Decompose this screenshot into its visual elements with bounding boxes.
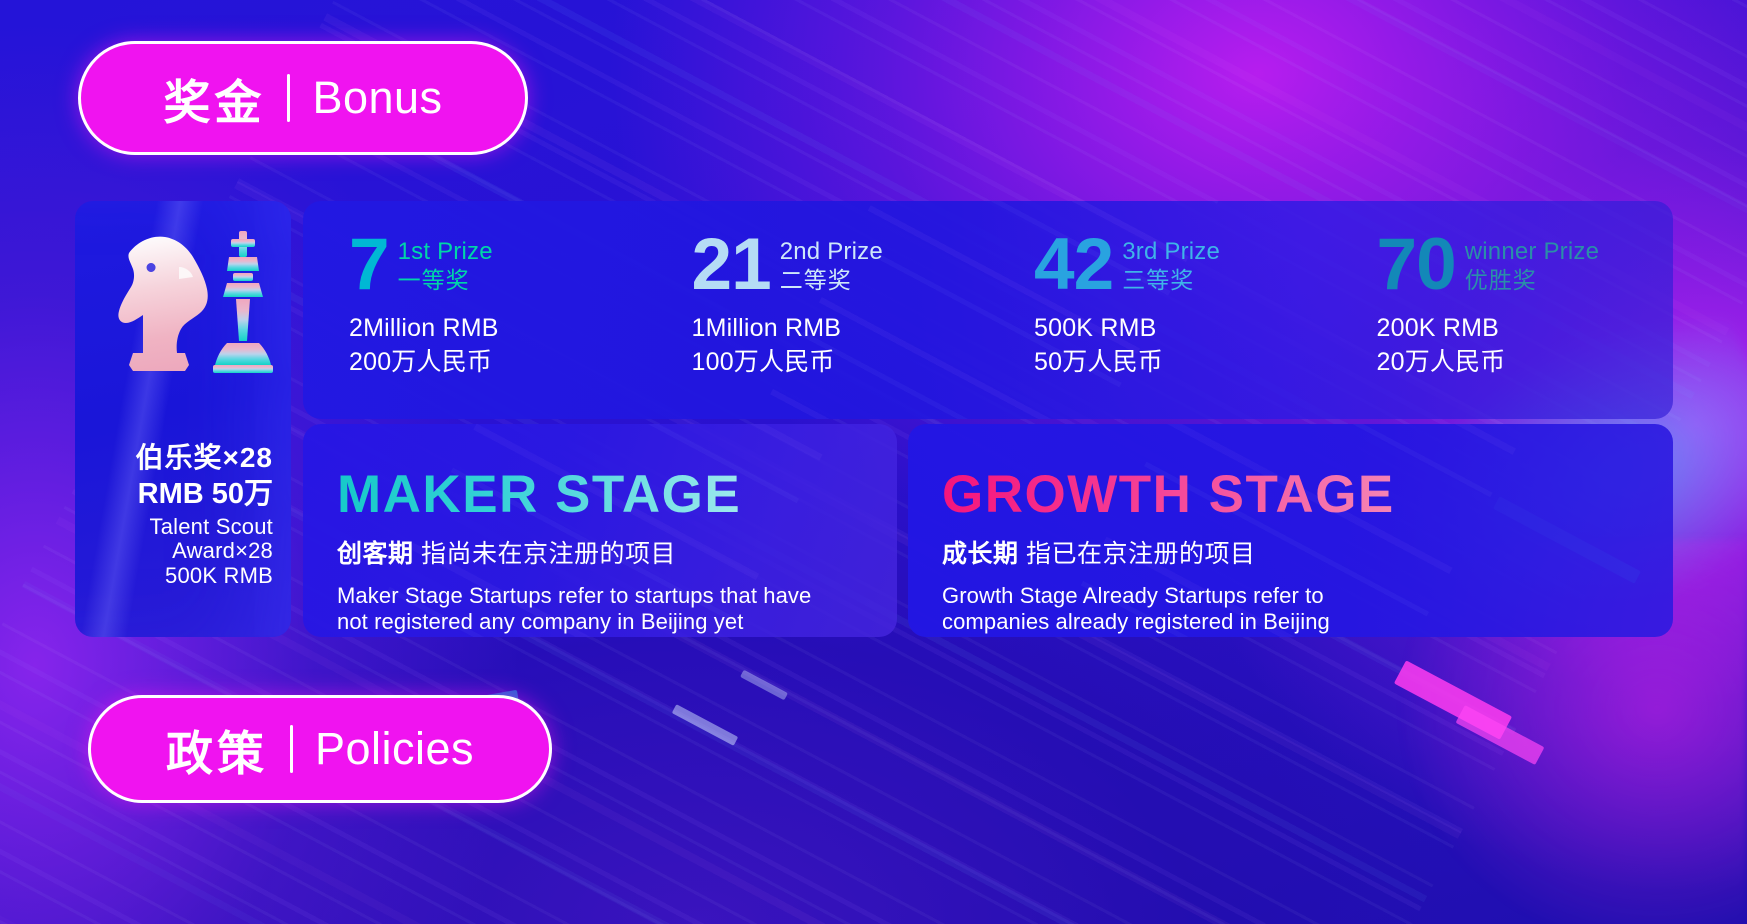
bonus-badge[interactable]: 奖金 Bonus <box>78 41 528 155</box>
prize-tier-2-header: 21 2nd Prize 二等奖 <box>692 235 989 295</box>
prize-tier-2: 21 2nd Prize 二等奖 1Million RMB 100万人民币 <box>646 201 989 419</box>
growth-stage-content: GROWTH STAGE 成长期 指已在京注册的项目 Growth Stage … <box>908 424 1673 635</box>
maker-stage-desc-cn: 指尚未在京注册的项目 <box>421 540 676 568</box>
talent-scout-title-en-2: Award×28 <box>75 539 273 563</box>
prize-tier-2-label-en: 2nd Prize <box>780 238 883 266</box>
prize-tier-2-count: 21 <box>692 235 771 295</box>
maker-stage-title: MAKER STAGE <box>337 468 897 521</box>
prize-tier-3-amount-cn: 50万人民币 <box>1034 346 1331 378</box>
policies-badge-label-cn: 政策 <box>166 715 268 784</box>
prize-tier-3: 42 3rd Prize 三等奖 500K RMB 50万人民币 <box>988 201 1331 419</box>
prize-tier-list: 7 1st Prize 一等奖 2Million RMB 200万人民币 21 … <box>303 201 1673 419</box>
prize-tier-4-count: 70 <box>1377 235 1456 295</box>
prize-tier-4-header: 70 winner Prize 优胜奖 <box>1377 235 1674 295</box>
prize-tier-3-label-en: 3rd Prize <box>1122 238 1220 266</box>
talent-scout-amount-en: 500K RMB <box>75 564 273 588</box>
bonus-badge-label-cn: 奖金 <box>163 64 265 133</box>
prize-tier-4-label-en: winner Prize <box>1465 238 1599 266</box>
prize-tier-3-count: 42 <box>1034 235 1113 295</box>
prize-tier-3-label-cn: 三等奖 <box>1122 266 1220 295</box>
maker-stage-card: MAKER STAGE 创客期 指尚未在京注册的项目 Maker Stage S… <box>303 424 897 637</box>
growth-stage-subtitle-cn: 成长期 指已在京注册的项目 <box>942 534 1673 570</box>
prize-tier-1-amount-cn: 200万人民币 <box>349 346 646 378</box>
talent-scout-card: 伯乐奖×28 RMB 50万 Talent Scout Award×28 500… <box>75 201 291 637</box>
prize-tier-4-amount-cn: 20万人民币 <box>1377 346 1674 378</box>
policies-badge-label-en: Policies <box>315 723 474 775</box>
prize-tier-1-header: 7 1st Prize 一等奖 <box>349 235 646 295</box>
growth-stage-desc-en-2: companies already registered in Beijing <box>942 609 1673 635</box>
prize-tier-2-amount-cn: 100万人民币 <box>692 346 989 378</box>
prize-tier-1-amount-en: 2Million RMB <box>349 312 646 344</box>
maker-stage-subtitle-cn: 创客期 指尚未在京注册的项目 <box>337 534 897 570</box>
maker-stage-content: MAKER STAGE 创客期 指尚未在京注册的项目 Maker Stage S… <box>303 424 897 635</box>
maker-stage-desc-en-1: Maker Stage Startups refer to startups t… <box>337 583 897 609</box>
maker-stage-term-cn: 创客期 <box>337 540 414 568</box>
growth-stage-desc-cn: 指已在京注册的项目 <box>1026 540 1256 568</box>
prize-tier-1-label-en: 1st Prize <box>398 238 493 266</box>
prize-tier-3-labels: 3rd Prize 三等奖 <box>1122 238 1220 295</box>
prize-tier-4: 70 winner Prize 优胜奖 200K RMB 20万人民币 <box>1331 201 1674 419</box>
prize-tier-1-count: 7 <box>349 235 389 295</box>
prize-tier-2-labels: 2nd Prize 二等奖 <box>780 238 883 295</box>
growth-stage-term-cn: 成长期 <box>942 540 1019 568</box>
talent-scout-text: 伯乐奖×28 RMB 50万 Talent Scout Award×28 500… <box>75 441 291 587</box>
growth-stage-desc-en-1: Growth Stage Already Startups refer to <box>942 583 1673 609</box>
prize-tier-1: 7 1st Prize 一等奖 2Million RMB 200万人民币 <box>303 201 646 419</box>
prize-tier-2-label-cn: 二等奖 <box>780 266 883 295</box>
talent-scout-title-cn: 伯乐奖×28 <box>75 441 273 474</box>
growth-stage-title: GROWTH STAGE <box>942 468 1673 521</box>
maker-stage-desc-en-2: not registered any company in Beijing ye… <box>337 609 897 635</box>
prize-tier-4-label-cn: 优胜奖 <box>1465 266 1599 295</box>
prize-tier-2-amount-en: 1Million RMB <box>692 312 989 344</box>
prize-tier-3-header: 42 3rd Prize 三等奖 <box>1034 235 1331 295</box>
prize-tier-1-label-cn: 一等奖 <box>398 266 493 295</box>
prize-tier-3-amount-en: 500K RMB <box>1034 312 1331 344</box>
talent-scout-title-en-1: Talent Scout <box>75 515 273 539</box>
talent-scout-amount-cn: RMB 50万 <box>75 476 273 514</box>
bonus-badge-divider <box>287 74 290 122</box>
growth-stage-card: GROWTH STAGE 成长期 指已在京注册的项目 Growth Stage … <box>908 424 1673 637</box>
prize-tier-4-labels: winner Prize 优胜奖 <box>1465 238 1599 295</box>
chess-pieces-icon <box>93 223 273 403</box>
prize-tier-4-amount-en: 200K RMB <box>1377 312 1674 344</box>
prize-tier-1-labels: 1st Prize 一等奖 <box>398 238 493 295</box>
policies-badge-divider <box>290 725 293 773</box>
prize-tiers-card: 7 1st Prize 一等奖 2Million RMB 200万人民币 21 … <box>303 201 1673 419</box>
bonus-badge-label-en: Bonus <box>312 72 442 124</box>
policies-badge[interactable]: 政策 Policies <box>88 695 552 803</box>
